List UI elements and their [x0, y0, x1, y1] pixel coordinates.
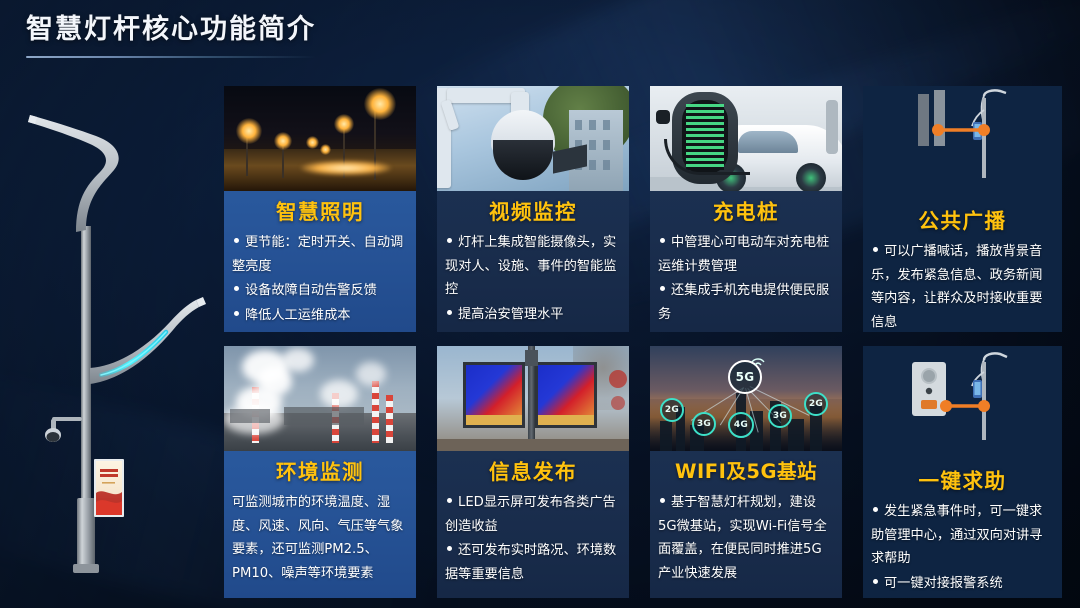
card-title: WIFI及5G基站	[658, 457, 834, 487]
card-image-factory-smoke	[224, 346, 416, 451]
bullet-dot-icon	[873, 579, 878, 584]
network-node: 2G	[660, 398, 684, 422]
card-body: 环境监测 可监测城市的环境温度、湿度、风速、风向、气压等气象要素，还可监测PM2…	[224, 451, 416, 598]
feature-card-one-click-help[interactable]: 一键求助 发生紧急事件时，可一键求助管理中心，通过双向对讲寻求帮助 可一键对接报…	[863, 346, 1062, 598]
bullet-text: LED显示屏可发布各类广告创造收益	[445, 495, 616, 534]
network-node: 3G	[768, 404, 792, 428]
list-item: 设备故障自动告警反馈	[232, 279, 408, 303]
bullet-text: 还可发布实时路况、环境数据等重要信息	[445, 543, 616, 582]
bullet-dot-icon	[873, 247, 878, 252]
bullet-dot-icon	[873, 507, 878, 512]
card-body: 智慧照明 更节能：定时开关、自动调整亮度 设备故障自动告警反馈 降低人工运维成本	[224, 191, 416, 332]
bullet-dot-icon	[447, 238, 452, 243]
list-item: 还集成手机充电提供便民服务	[658, 279, 834, 326]
feature-card-information-release[interactable]: 信息发布 LED显示屏可发布各类广告创造收益 还可发布实时路况、环境数据等重要信…	[437, 346, 629, 598]
card-body: 视频监控 灯杆上集成智能摄像头，实现对人、设施、事件的智能监控 提高治安管理水平	[437, 191, 629, 332]
card-body: 充电桩 中管理心可电动车对充电桩运维计费管理 还集成手机充电提供便民服务	[650, 191, 842, 332]
card-title: 充电桩	[658, 197, 834, 227]
card-bullet-list: 灯杆上集成智能摄像头，实现对人、设施、事件的智能监控 提高治安管理水平	[445, 231, 621, 326]
bullet-dot-icon	[234, 238, 239, 243]
pole-lower-arm-light	[90, 297, 206, 384]
bullet-dot-icon	[447, 498, 452, 503]
bullet-text: 还集成手机充电提供便民服务	[658, 283, 829, 322]
title-underline	[26, 56, 316, 58]
feature-card-charging-pile[interactable]: 充电桩 中管理心可电动车对充电桩运维计费管理 还集成手机充电提供便民服务	[650, 86, 842, 332]
card-paragraph: 可监测城市的环境温度、湿度、风速、风向、气压等气象要素，还可监测PM2.5、PM…	[232, 491, 408, 585]
bullet-text: 更节能：定时开关、自动调整亮度	[232, 235, 403, 274]
card-body: 信息发布 LED显示屏可发布各类广告创造收益 还可发布实时路况、环境数据等重要信…	[437, 451, 629, 598]
feature-card-smart-lighting[interactable]: 智慧照明 更节能：定时开关、自动调整亮度 设备故障自动告警反馈 降低人工运维成本	[224, 86, 416, 332]
card-body: 一键求助 发生紧急事件时，可一键求助管理中心，通过双向对讲寻求帮助 可一键对接报…	[863, 346, 1062, 598]
card-title: 视频监控	[445, 197, 621, 227]
card-title: 公共广播	[871, 206, 1054, 236]
list-item: 可一键对接报警系统	[871, 572, 1054, 596]
card-bullet-list: LED显示屏可发布各类广告创造收益 还可发布实时路况、环境数据等重要信息	[445, 491, 621, 586]
bullet-dot-icon	[447, 546, 452, 551]
bullet-text: 基于智慧灯杆规划，建设5G微基站，实现Wi-Fi信号全面覆盖，在便民同时推进5G…	[658, 495, 827, 581]
bullet-text: 可以广播喊话，播放背景音乐，发布紧急信息、政务新闻等内容，让群众及时接收重要信息	[871, 244, 1042, 330]
bullet-dot-icon	[447, 310, 452, 315]
list-item: 还可发布实时路况、环境数据等重要信息	[445, 539, 621, 586]
bullet-dot-icon	[234, 286, 239, 291]
wifi-signal-icon	[750, 354, 766, 368]
list-item: 基于智慧灯杆规划，建设5G微基站，实现Wi-Fi信号全面覆盖，在便民同时推进5G…	[658, 491, 834, 585]
card-image-ev-charging	[650, 86, 842, 191]
bullet-dot-icon	[660, 286, 665, 291]
card-image-night-road	[224, 86, 416, 191]
card-title: 信息发布	[445, 457, 621, 487]
bullet-dot-icon	[660, 238, 665, 243]
card-bullet-list: 发生紧急事件时，可一键求助管理中心，通过双向对讲寻求帮助 可一键对接报警系统	[871, 500, 1054, 595]
bullet-text: 中管理心可电动车对充电桩运维计费管理	[658, 235, 829, 274]
page-title: 智慧灯杆核心功能简介	[26, 10, 646, 50]
card-bullet-list: 可以广播喊话，播放背景音乐，发布紧急信息、政务新闻等内容，让群众及时接收重要信息	[871, 240, 1054, 332]
list-item: 降低人工运维成本	[232, 304, 408, 328]
card-bullet-list: 中管理心可电动车对充电桩运维计费管理 还集成手机充电提供便民服务	[658, 231, 834, 326]
feature-card-video-surveillance[interactable]: 视频监控 灯杆上集成智能摄像头，实现对人、设施、事件的智能监控 提高治安管理水平	[437, 86, 629, 332]
card-image-dome-camera	[437, 86, 629, 191]
feature-card-environment-monitoring[interactable]: 环境监测 可监测城市的环境温度、湿度、风速、风向、气压等气象要素，还可监测PM2…	[224, 346, 416, 598]
list-item: 中管理心可电动车对充电桩运维计费管理	[658, 231, 834, 278]
card-bullet-list: 基于智慧灯杆规划，建设5G微基站，实现Wi-Fi信号全面覆盖，在便民同时推进5G…	[658, 491, 834, 585]
pole-upper-arm	[28, 115, 119, 232]
list-item: 灯杆上集成智能摄像头，实现对人、设施、事件的智能监控	[445, 231, 621, 302]
bullet-dot-icon	[234, 311, 239, 316]
pole-mast	[73, 226, 99, 573]
card-title: 智慧照明	[232, 197, 408, 227]
feature-card-wifi-5g-base-station[interactable]: 5G 2G 3G 4G 3G 2G WIFI及5G基站 基于智慧灯杆规划，建设5…	[650, 346, 842, 598]
card-title: 一键求助	[871, 466, 1054, 496]
smart-lamp-pole-illustration	[18, 78, 213, 598]
network-node: 3G	[692, 412, 716, 436]
card-image-led-billboard	[437, 346, 629, 451]
list-item: 可以广播喊话，播放背景音乐，发布紧急信息、政务新闻等内容，让群众及时接收重要信息	[871, 240, 1054, 332]
bullet-text: 降低人工运维成本	[245, 308, 351, 323]
bullet-dot-icon	[660, 498, 665, 503]
pole-led-banner	[94, 459, 124, 517]
card-image-5g-network: 5G 2G 3G 4G 3G 2G	[650, 346, 842, 451]
network-node: 2G	[804, 392, 828, 416]
feature-card-public-broadcast[interactable]: 公共广播 可以广播喊话，播放背景音乐，发布紧急信息、政务新闻等内容，让群众及时接…	[863, 86, 1062, 332]
network-node: 4G	[728, 412, 754, 438]
card-body: 公共广播 可以广播喊话，播放背景音乐，发布紧急信息、政务新闻等内容，让群众及时接…	[863, 86, 1062, 332]
feature-card-grid: 智慧照明 更节能：定时开关、自动调整亮度 设备故障自动告警反馈 降低人工运维成本	[224, 86, 1062, 598]
pole-camera-unit	[45, 417, 82, 442]
bullet-text: 灯杆上集成智能摄像头，实现对人、设施、事件的智能监控	[445, 235, 616, 297]
bullet-text: 提高治安管理水平	[458, 307, 564, 322]
card-bullet-list: 更节能：定时开关、自动调整亮度 设备故障自动告警反馈 降低人工运维成本	[232, 231, 408, 327]
list-item: 更节能：定时开关、自动调整亮度	[232, 231, 408, 278]
bullet-text: 设备故障自动告警反馈	[245, 283, 377, 298]
bullet-text: 可一键对接报警系统	[884, 576, 1003, 591]
page-header: 智慧灯杆核心功能简介	[26, 10, 646, 58]
list-item: LED显示屏可发布各类广告创造收益	[445, 491, 621, 538]
card-body: WIFI及5G基站 基于智慧灯杆规划，建设5G微基站，实现Wi-Fi信号全面覆盖…	[650, 451, 842, 598]
list-item: 提高治安管理水平	[445, 303, 621, 327]
card-title: 环境监测	[232, 457, 408, 487]
list-item: 发生紧急事件时，可一键求助管理中心，通过双向对讲寻求帮助	[871, 500, 1054, 571]
bullet-text: 发生紧急事件时，可一键求助管理中心，通过双向对讲寻求帮助	[871, 504, 1042, 566]
